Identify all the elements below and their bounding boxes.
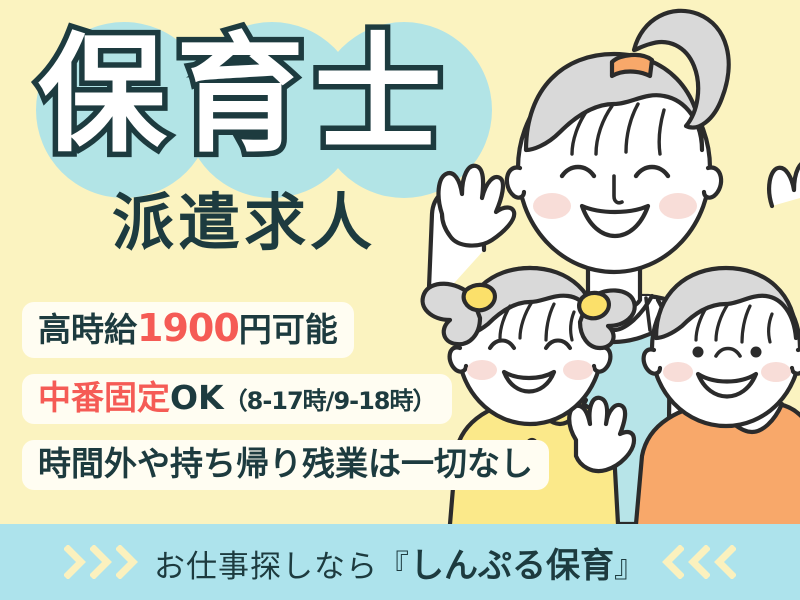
chevron-right-icon	[90, 545, 112, 579]
chevron-left-icon	[714, 545, 736, 579]
feature-lead-text: 時間外や持ち帰り残業は一切なし	[38, 444, 533, 483]
feature-list: 高時給1900円可能 中番固定OK（8-17時/9-18時） 時間外や持ち帰り残…	[22, 302, 542, 506]
chevron-right-group	[64, 545, 138, 579]
job-advertisement-banner: 保育士 派遣求人 高時給1900円可能 中番固定OK（8-17時/9-18時） …	[0, 0, 800, 600]
bracket-open: 『	[378, 541, 410, 586]
chevron-left-icon	[688, 545, 710, 579]
brand-name: しんぷる保育	[410, 538, 614, 587]
feature-pill-wage: 高時給1900円可能	[22, 302, 354, 358]
feature-pill-overtime: 時間外や持ち帰り残業は一切なし	[22, 440, 549, 490]
page-title: 保育士	[38, 32, 452, 160]
chevron-left-icon	[662, 545, 684, 579]
page-subtitle: 派遣求人	[112, 192, 376, 254]
feature-row: 時間外や持ち帰り残業は一切なし	[22, 440, 542, 506]
feature-lead-text: 高時給	[38, 310, 137, 349]
chevron-right-icon	[116, 545, 138, 579]
chevron-right-icon	[64, 545, 86, 579]
bracket-close: 』	[614, 541, 646, 586]
bottom-cta-bar: お仕事探しなら『しんぷる保育』	[0, 524, 800, 600]
bottom-cta-text: お仕事探しなら『しんぷる保育』	[154, 538, 646, 587]
bottom-lead-text: お仕事探しなら	[154, 541, 378, 586]
chevron-left-group	[662, 545, 736, 579]
feature-highlight-wage: 1900	[137, 306, 239, 350]
feature-row: 中番固定OK（8-17時/9-18時）	[22, 374, 542, 440]
feature-row: 高時給1900円可能	[22, 302, 542, 374]
feature-tail-text: 円可能	[239, 310, 338, 349]
feature-note-hours: （8-17時/9-18時）	[224, 387, 436, 415]
feature-tail-text: OK	[170, 378, 224, 417]
feature-highlight-shift: 中番固定	[38, 378, 170, 417]
feature-pill-shift: 中番固定OK（8-17時/9-18時）	[22, 374, 452, 424]
